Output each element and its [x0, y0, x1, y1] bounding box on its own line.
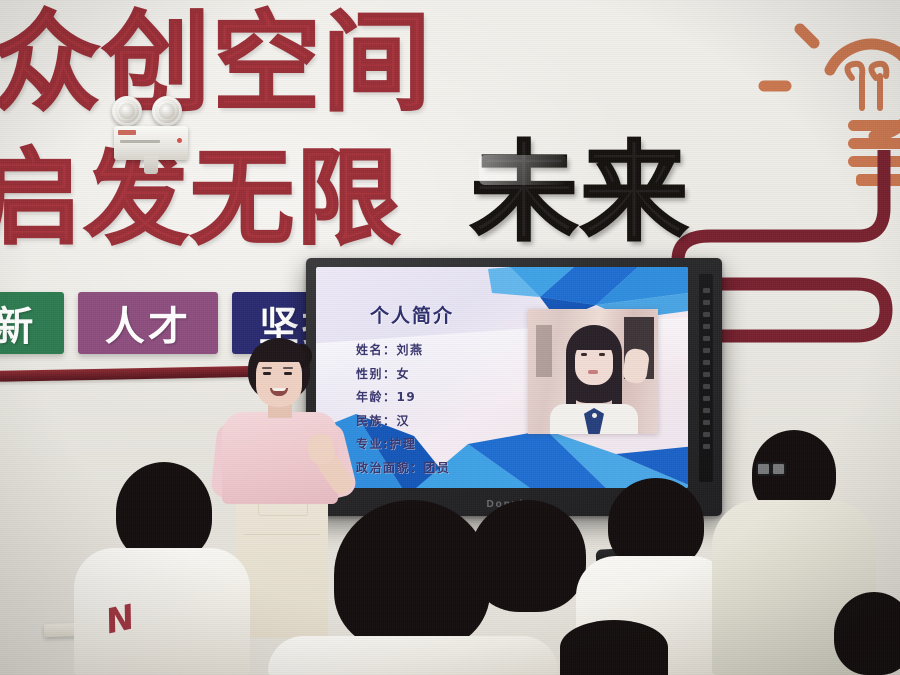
emergency-light-stem: [144, 156, 158, 174]
emergency-lamp-head-right: [152, 96, 182, 126]
wall-headline-line1: 众创空间: [0, 10, 433, 118]
audience-far-right: [834, 592, 900, 675]
slide-field-political: 政治面貌：团员: [356, 459, 451, 476]
smartboard-control-strip[interactable]: [699, 274, 713, 482]
audience-bottom-right: [560, 620, 668, 675]
audience-front-left: [116, 462, 212, 562]
audience-front-center-shirt: [268, 636, 558, 675]
presentation-slide: 个人简介 姓名：刘燕 性别：女 年龄：19 民族：汉 专业:护理 政治面貌：团员: [316, 267, 688, 488]
wall-headline-line2-red: 启发无限: [0, 146, 402, 250]
slide-field-gender: 性别：女: [356, 365, 451, 382]
slide-field-ethnicity: 民族：汉: [356, 412, 451, 429]
audience-mid-center: [470, 500, 586, 612]
slide-field-major: 专业:护理: [356, 435, 451, 452]
smartboard-screen[interactable]: 个人简介 姓名：刘燕 性别：女 年龄：19 民族：汉 专业:护理 政治面貌：团员: [316, 267, 688, 488]
wall-placard-1: 新: [0, 292, 64, 354]
slide-field-name: 姓名：刘燕: [356, 341, 451, 358]
slide-field-age: 年龄：19: [356, 388, 451, 405]
slide-portrait-photo: [528, 309, 658, 434]
photo-scene: 众创空间 启发无限 未来 新 人才 坚持: [0, 0, 900, 675]
eyeglasses-icon: [756, 462, 784, 473]
audience-front-left-shirt: [74, 548, 250, 675]
emergency-lamp-head-left: [112, 96, 142, 126]
emergency-light-fixture: [110, 92, 192, 174]
slide-field-list: 姓名：刘燕 性别：女 年龄：19 民族：汉 专业:护理 政治面貌：团员: [356, 341, 451, 476]
slide-title: 个人简介: [370, 301, 454, 328]
wall-headline-line2-black: 未来: [470, 140, 690, 248]
emergency-light-body: [114, 126, 188, 160]
